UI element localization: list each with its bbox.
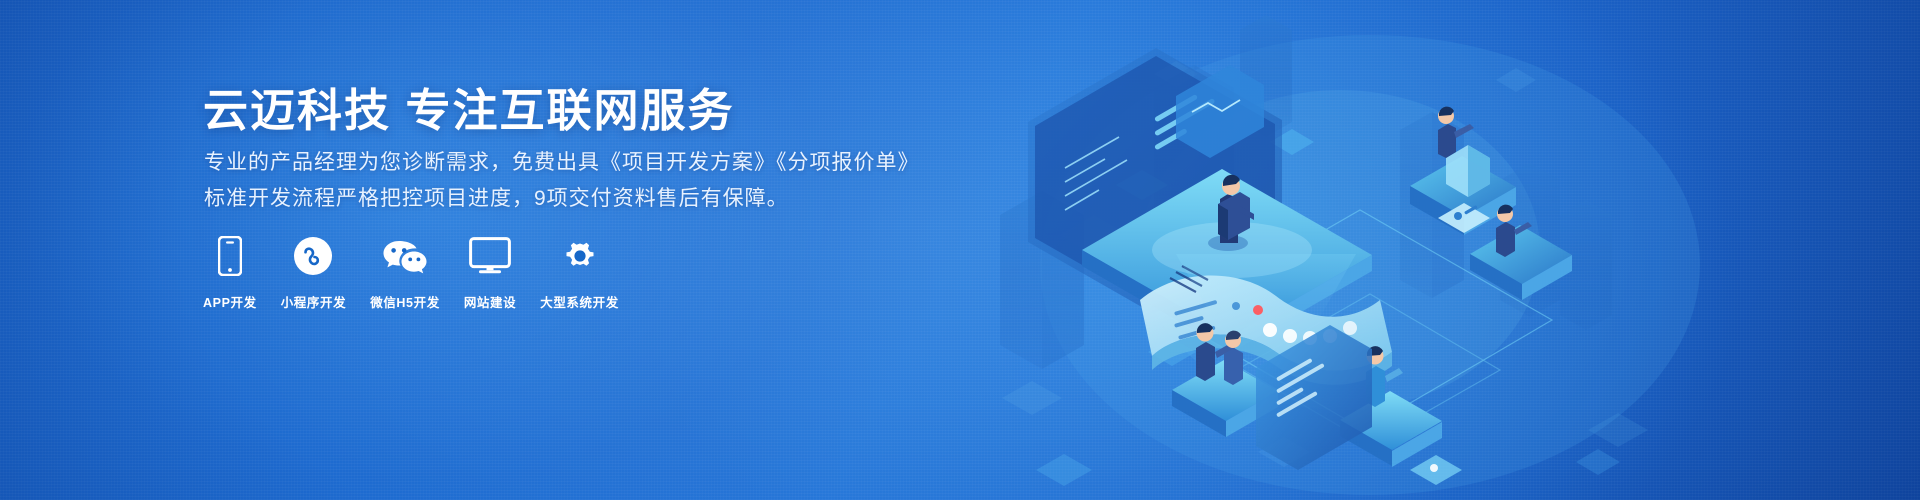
- wechat-icon: [382, 234, 428, 278]
- service-icon-row: APP开发 小程序开发: [203, 234, 619, 311]
- service-item-mini-program[interactable]: 小程序开发: [281, 234, 347, 311]
- service-label-mini-program: 小程序开发: [281, 292, 347, 311]
- service-item-website[interactable]: 网站建设: [464, 234, 516, 311]
- mini-program-icon: [293, 234, 333, 278]
- monitor-icon: [469, 234, 511, 278]
- isometric-illustration: [940, 0, 1920, 500]
- service-label-wechat-h5: 微信H5开发: [370, 292, 440, 311]
- gear-icon: [560, 234, 600, 278]
- service-item-app[interactable]: APP开发: [203, 234, 257, 311]
- mobile-phone-icon: [218, 234, 242, 278]
- service-label-large-system: 大型系统开发: [540, 292, 619, 311]
- service-item-wechat-h5[interactable]: 微信H5开发: [370, 234, 440, 311]
- service-label-app: APP开发: [203, 292, 257, 311]
- banner-subtitle-line-2: 标准开发流程严格把控项目进度，9项交付资料售后有保障。: [204, 182, 789, 212]
- banner-content: 云迈科技 专注互联网服务 专业的产品经理为您诊断需求，免费出具《项目开发方案》《…: [203, 0, 963, 500]
- service-item-large-system[interactable]: 大型系统开发: [540, 234, 619, 311]
- service-label-website: 网站建设: [464, 292, 516, 311]
- hero-banner: 云迈科技 专注互联网服务 专业的产品经理为您诊断需求，免费出具《项目开发方案》《…: [0, 0, 1920, 500]
- banner-subtitle-line-1: 专业的产品经理为您诊断需求，免费出具《项目开发方案》《分项报价单》: [204, 146, 920, 176]
- banner-headline: 云迈科技 专注互联网服务: [203, 74, 735, 139]
